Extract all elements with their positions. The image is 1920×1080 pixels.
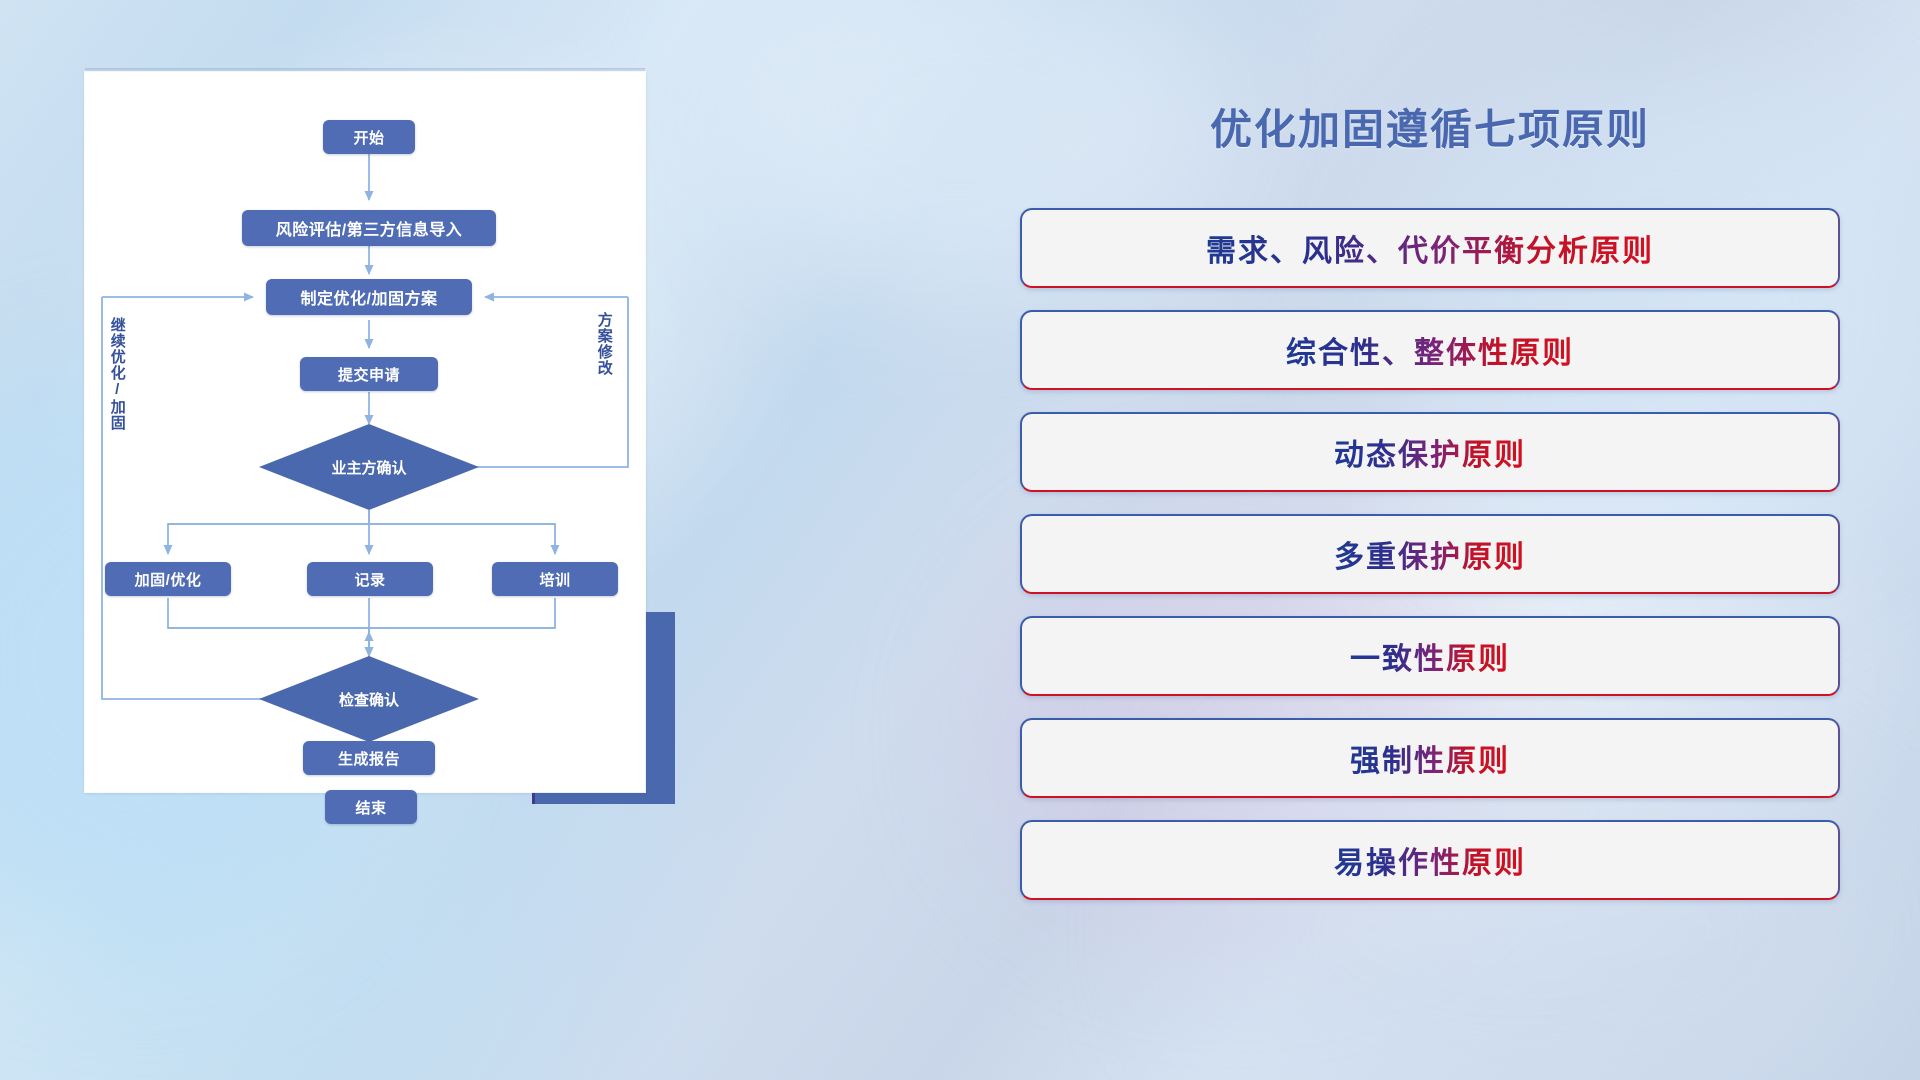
flowchart-card: 开始 风险评估/第三方信息导入 制定优化/加固方案 提交申请 业主方确认 加固/…	[85, 72, 645, 792]
principle-item[interactable]: 易操作性原则	[1020, 820, 1840, 900]
flow-edge-label-plan-revision: 方案修改	[596, 312, 612, 376]
flow-node-label: 检查确认	[339, 689, 399, 710]
flow-node-plan[interactable]: 制定优化/加固方案	[266, 279, 472, 315]
flow-node-label: 业主方确认	[331, 457, 406, 478]
flow-node-start[interactable]: 开始	[323, 120, 415, 154]
principle-item[interactable]: 综合性、整体性原则	[1020, 310, 1840, 390]
principle-item[interactable]: 需求、风险、代价平衡分析原则	[1020, 208, 1840, 288]
principles-panel: 优化加固遵循七项原则 需求、风险、代价平衡分析原则 综合性、整体性原则 动态保护…	[1020, 96, 1840, 996]
flow-node-label: 记录	[354, 569, 385, 590]
flow-node-label: 提交申请	[338, 364, 400, 385]
flow-node-label: 制定优化/加固方案	[301, 285, 438, 309]
slide-canvas: 开始 风险评估/第三方信息导入 制定优化/加固方案 提交申请 业主方确认 加固/…	[0, 0, 1920, 1080]
principle-label: 动态保护原则	[1334, 430, 1526, 474]
flowchart-region: 开始 风险评估/第三方信息导入 制定优化/加固方案 提交申请 业主方确认 加固/…	[85, 72, 785, 812]
flow-node-end[interactable]: 结束	[325, 790, 417, 824]
flow-node-label: 培训	[539, 569, 570, 590]
flow-node-generate-report[interactable]: 生成报告	[303, 741, 435, 775]
panel-title: 优化加固遵循七项原则	[1020, 96, 1840, 157]
flow-node-reinforce-optimize[interactable]: 加固/优化	[105, 562, 231, 596]
principle-label: 一致性原则	[1350, 634, 1510, 678]
principle-item[interactable]: 多重保护原则	[1020, 514, 1840, 594]
principle-item[interactable]: 动态保护原则	[1020, 412, 1840, 492]
flow-node-label: 生成报告	[338, 748, 400, 769]
flow-node-submit-application[interactable]: 提交申请	[300, 357, 438, 391]
flow-node-label: 加固/优化	[135, 569, 202, 590]
flow-node-label: 风险评估/第三方信息导入	[276, 216, 462, 240]
flow-node-record[interactable]: 记录	[307, 562, 433, 596]
principle-item[interactable]: 一致性原则	[1020, 616, 1840, 696]
principle-label: 强制性原则	[1350, 736, 1510, 780]
principle-item[interactable]: 强制性原则	[1020, 718, 1840, 798]
flow-edge-label-continue-optimize: 继续优化/加固	[109, 317, 125, 431]
principle-list: 需求、风险、代价平衡分析原则 综合性、整体性原则 动态保护原则 多重保护原则 一…	[1020, 208, 1840, 922]
principle-label: 易操作性原则	[1334, 838, 1526, 882]
flow-node-risk-assessment[interactable]: 风险评估/第三方信息导入	[242, 210, 496, 246]
flow-node-training[interactable]: 培训	[492, 562, 618, 596]
flow-node-label: 结束	[355, 797, 386, 818]
principle-label: 多重保护原则	[1334, 532, 1526, 576]
flow-node-label: 开始	[353, 127, 384, 148]
principle-label: 综合性、整体性原则	[1286, 328, 1574, 372]
principle-label: 需求、风险、代价平衡分析原则	[1206, 226, 1654, 270]
